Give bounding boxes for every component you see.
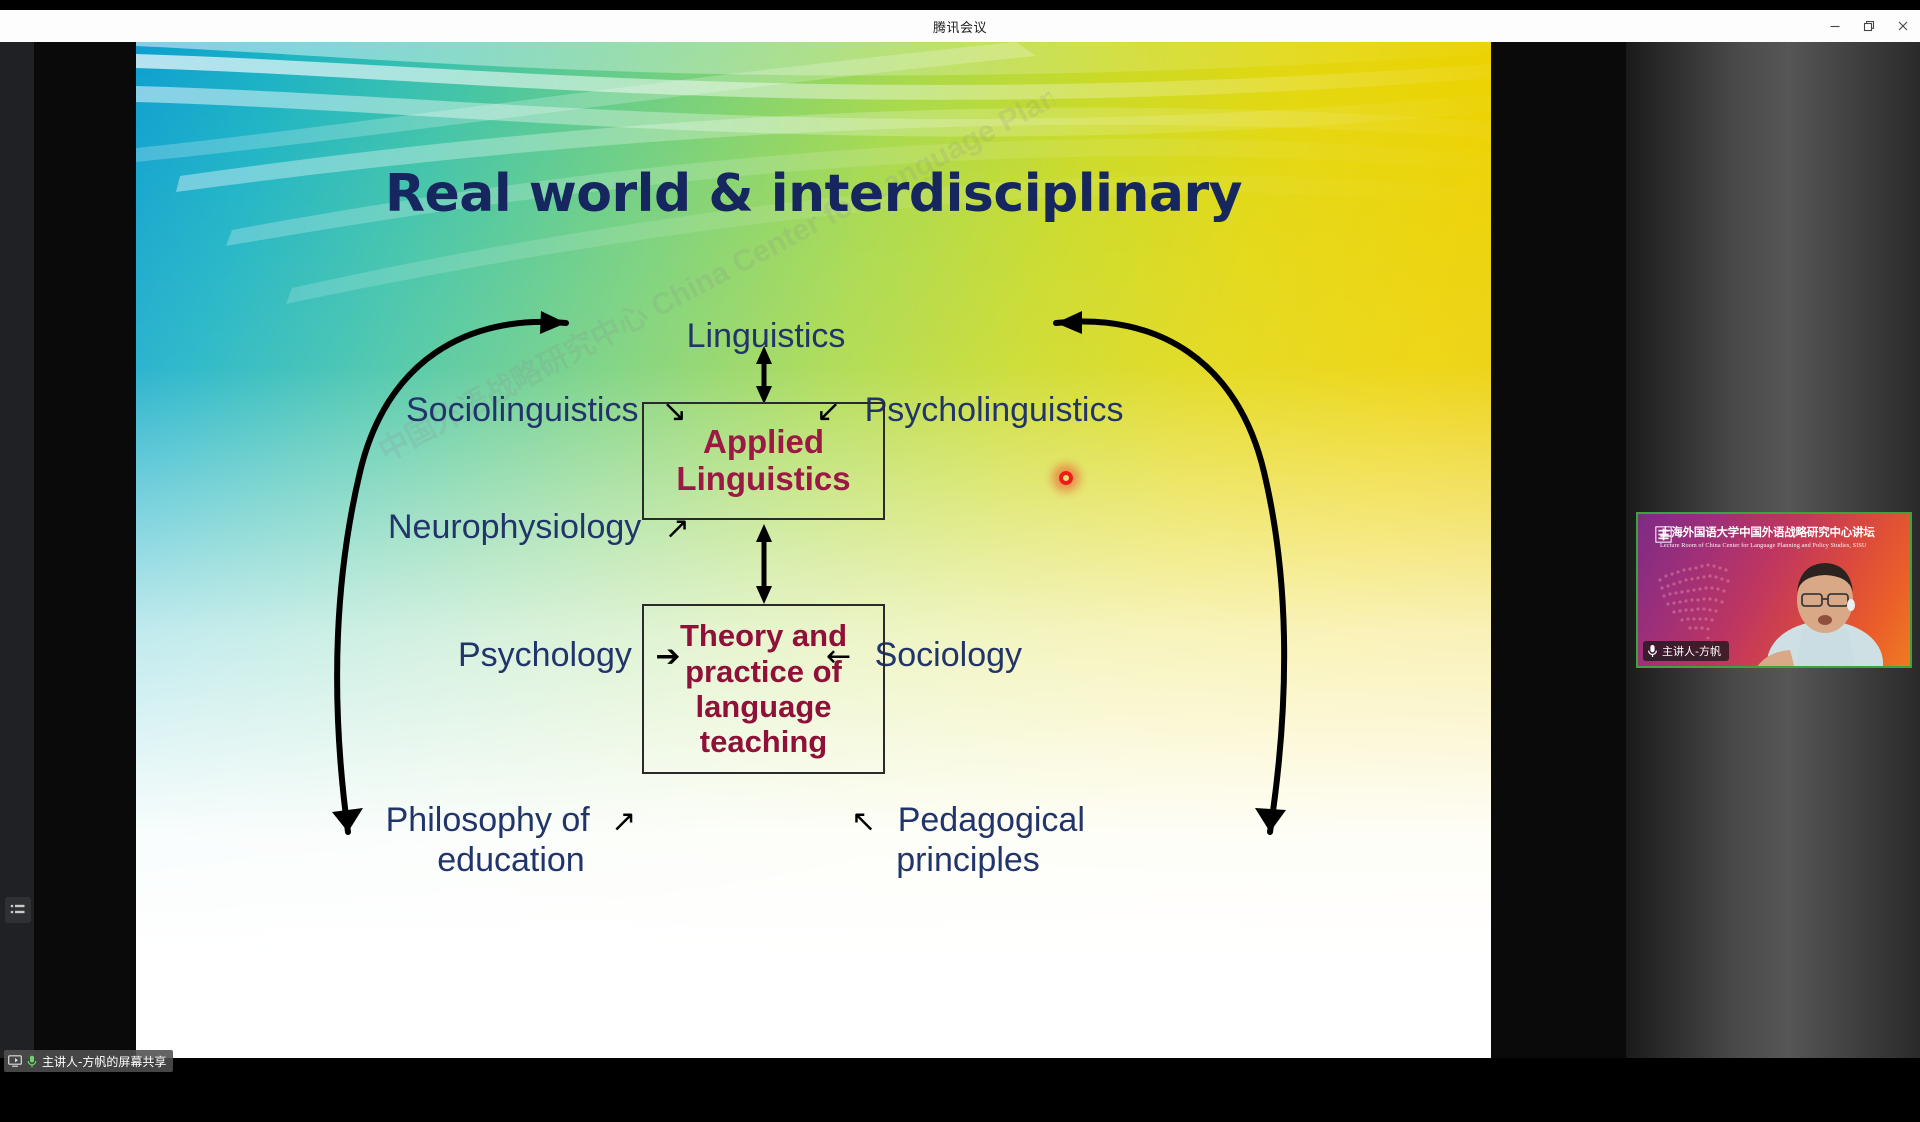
minimize-icon	[1829, 20, 1841, 32]
minimize-button[interactable]	[1818, 10, 1852, 42]
titlebar: 腾讯会议	[0, 10, 1920, 42]
video-banner-cn: 上海外国语大学中国外语战略研究中心讲坛	[1660, 524, 1904, 540]
laser-pointer-icon	[1059, 471, 1073, 485]
close-icon	[1897, 20, 1909, 32]
node-psychology-label: Psychology	[458, 636, 632, 674]
sisu-logo-icon	[1655, 526, 1672, 543]
participant-avatar	[1750, 548, 1900, 668]
box-applied-line1: Applied	[676, 424, 850, 461]
china-map-graphic	[1646, 544, 1766, 654]
tencent-meeting-window: 腾讯会议	[0, 0, 1920, 1080]
shared-slide: 中国外语战略研究中心 China Center for Language Pla…	[136, 42, 1491, 1058]
restore-button[interactable]	[1852, 10, 1886, 42]
list-icon	[10, 903, 26, 917]
node-neurophysiology-label: Neurophysiology	[388, 508, 641, 546]
node-linguistics: Linguistics	[666, 316, 866, 356]
sidebar-item-list-menu[interactable]	[5, 897, 31, 923]
arrow-up-left-icon: ↖	[851, 804, 876, 839]
screen-share-icon	[8, 1055, 22, 1067]
node-pedagogical-principles: ↖ Pedagogical principles	[818, 800, 1118, 880]
box-applied-linguistics: Applied Linguistics	[642, 402, 885, 520]
restore-icon	[1863, 20, 1875, 32]
bottom-letterbox	[0, 1058, 1920, 1122]
node-philosophy-line1-row: Philosophy of ↗	[366, 800, 656, 840]
node-sociolinguistics-label: Sociolinguistics	[406, 391, 638, 429]
node-pedagogical-line1-row: ↖ Pedagogical	[818, 800, 1118, 840]
participant-name: 主讲人-方帆	[1662, 643, 1721, 659]
box-theory-line1: Theory and	[680, 618, 847, 653]
microphone-icon	[1647, 644, 1658, 658]
window-controls	[1818, 10, 1920, 42]
participant-video-tile[interactable]: 上海外国语大学中国外语战略研究中心讲坛 Lecture Room of Chin…	[1636, 512, 1912, 668]
participant-name-badge: 主讲人-方帆	[1643, 641, 1729, 661]
node-pedagogical-label-line2: principles	[818, 840, 1118, 880]
microphone-icon	[27, 1055, 37, 1068]
window-title: 腾讯会议	[933, 17, 987, 36]
node-sociology-label: Sociology	[875, 636, 1022, 674]
box-theory-and-practice: Theory and practice of language teaching	[642, 604, 885, 774]
meeting-stage: 中国外语战略研究中心 China Center for Language Pla…	[0, 42, 1920, 1080]
diagram-canvas: Linguistics Sociolinguistics ↘ ↙ Psychol…	[136, 42, 1491, 1058]
node-linguistics-label: Linguistics	[687, 317, 846, 355]
screen-share-status-text: 主讲人-方帆的屏幕共享	[42, 1053, 166, 1070]
diagram-arrows	[136, 42, 1491, 1058]
arrow-up-right-icon: ↗	[611, 804, 636, 839]
box-theory-line4: teaching	[680, 724, 847, 759]
node-psycholinguistics-label: Psycholinguistics	[865, 391, 1124, 429]
node-pedagogical-label-line1: Pedagogical	[898, 801, 1085, 839]
node-philosophy-of-education: Philosophy of ↗ education	[366, 800, 656, 880]
box-applied-line2: Linguistics	[676, 461, 850, 498]
box-theory-line2: practice of	[680, 654, 847, 689]
close-button[interactable]	[1886, 10, 1920, 42]
box-theory-line3: language	[680, 689, 847, 724]
node-philosophy-label-line1: Philosophy of	[386, 801, 590, 839]
video-banner: 上海外国语大学中国外语战略研究中心讲坛 Lecture Room of Chin…	[1660, 524, 1904, 549]
node-philosophy-label-line2: education	[366, 840, 656, 880]
left-rail	[0, 42, 34, 1080]
status-badge: 主讲人-方帆的屏幕共享	[4, 1050, 173, 1072]
